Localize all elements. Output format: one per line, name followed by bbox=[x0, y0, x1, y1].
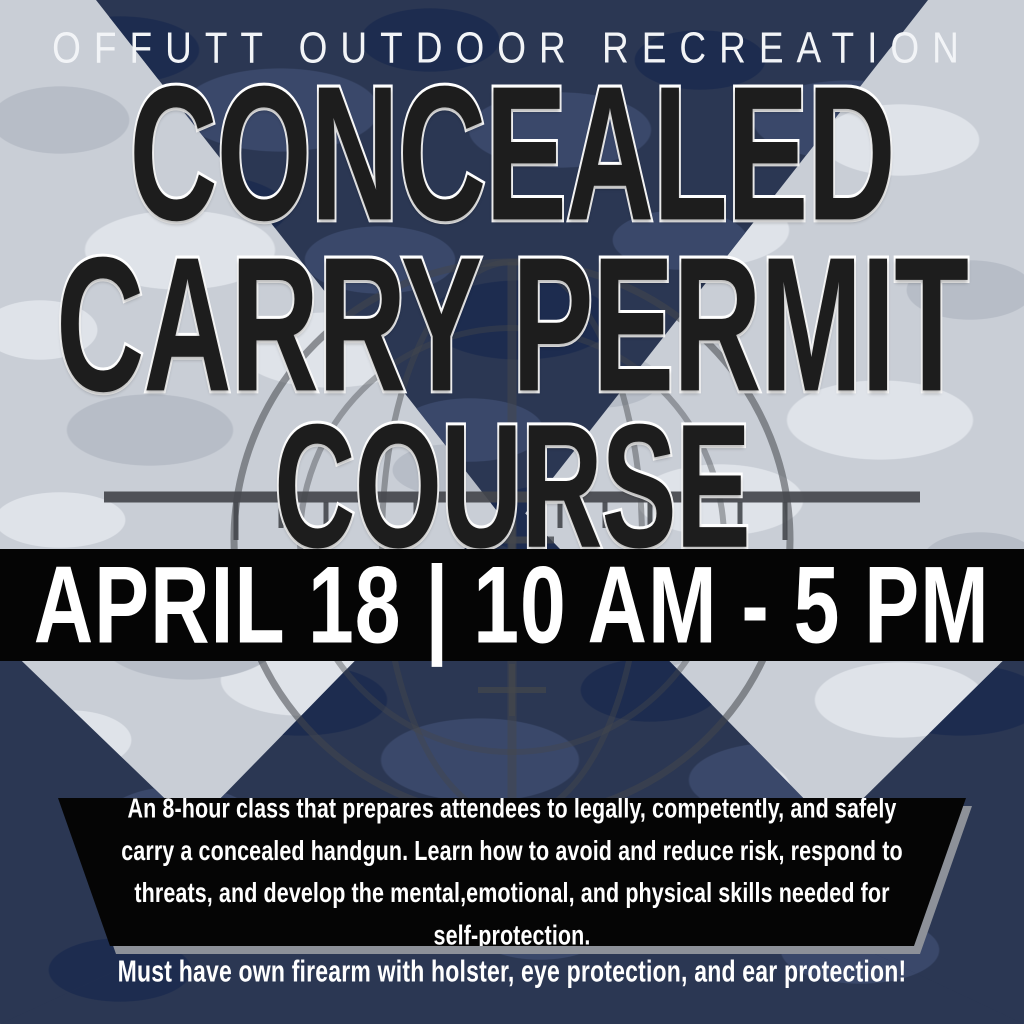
description-banner: An 8-hour class that prepares attendees … bbox=[58, 798, 966, 946]
title-line-3: COURSE bbox=[15, 416, 1008, 557]
description-banner-body: An 8-hour class that prepares attendees … bbox=[58, 798, 966, 946]
title-line-2: CARRY PERMIT bbox=[15, 249, 1008, 402]
date-time-banner: APRIL 18 | 10 AM - 5 PM bbox=[0, 550, 1024, 660]
date-time-text: APRIL 18 | 10 AM - 5 PM bbox=[34, 550, 990, 659]
description-text: An 8-hour class that prepares attendees … bbox=[117, 787, 907, 957]
page-title: CONCEALED CARRY PERMIT COURSE bbox=[0, 78, 1024, 508]
requirements-footnote: Must have own firearm with holster, eye … bbox=[0, 954, 1024, 990]
poster-canvas: OFFUTT OUTDOOR RECREATION CONCEALED CARR… bbox=[0, 0, 1024, 1024]
title-line-1: CONCEALED bbox=[15, 78, 1008, 231]
